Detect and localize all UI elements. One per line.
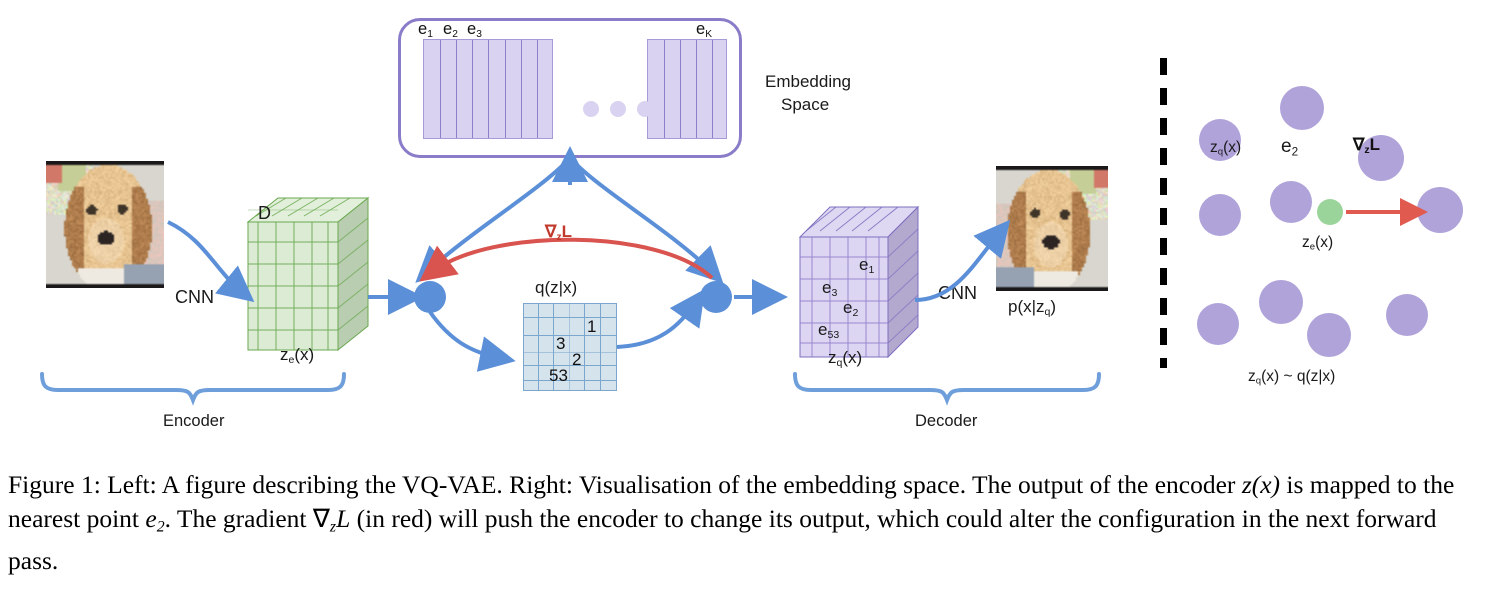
caption-math-grad: ∇ — [313, 504, 330, 533]
diagram-connectors — [0, 0, 1150, 460]
right-e2-base: e — [1281, 136, 1292, 157]
right-e2-sub: 2 — [1292, 145, 1299, 158]
right-gradient-label: ∇zL — [1353, 135, 1380, 156]
right-bottom-label: zq(x) ~ q(z|x) — [1248, 368, 1335, 387]
embedding-dot-7 — [1259, 280, 1303, 324]
encoder-output-dot — [1317, 199, 1343, 225]
embedding-dot-9 — [1307, 313, 1351, 357]
embedding-dot-10 — [1386, 294, 1428, 336]
right-zq-label: zq(x) — [1210, 139, 1241, 158]
decoder-brace-label: Decoder — [915, 412, 977, 431]
caption-math-e2: e — [145, 504, 156, 533]
right-grad-nabla: ∇ — [1353, 135, 1364, 154]
right-ze-tail: (x) — [1315, 234, 1333, 251]
embedding-dot-4 — [1199, 194, 1241, 236]
right-nearest-point-e2: e2 — [1281, 136, 1298, 158]
right-bottom-base: z — [1248, 368, 1256, 385]
right-zq-base: z — [1210, 139, 1218, 156]
embedding-dot-6 — [1417, 187, 1463, 233]
embedding-dot-8 — [1197, 303, 1239, 345]
embedding-space-visualisation: zq(x) e2 ∇zL ze(x) zq(x) ~ q(z|x) — [1150, 30, 1488, 390]
right-ze-label: ze(x) — [1302, 234, 1333, 253]
caption-math-grad-tail: L — [336, 504, 350, 533]
grad-nabla: ∇ — [545, 222, 556, 241]
right-bottom-tail: (x) ~ q(z|x) — [1261, 368, 1335, 385]
caption-mid2: . The gradient — [165, 504, 313, 533]
embedding-dot-2 — [1280, 86, 1324, 130]
right-grad-tail: L — [1370, 135, 1380, 154]
caption-math-e2-sub: 2 — [157, 518, 165, 535]
gradient-label-center: ∇zL — [545, 222, 572, 243]
figure-caption: Figure 1: Left: A figure describing the … — [8, 468, 1482, 578]
vqvae-figure: e1 e2 e3 eK Embedding Space — [0, 0, 1488, 460]
right-panel-svg — [1150, 30, 1488, 390]
encoder-brace-label: Encoder — [163, 412, 224, 431]
right-zq-tail: (x) — [1223, 139, 1241, 156]
caption-prefix: Figure 1: Left: A figure describing the … — [8, 470, 1242, 499]
embedding-dot-5 — [1270, 181, 1312, 223]
grad-tail: L — [562, 222, 572, 241]
caption-math-zx: z(x) — [1242, 470, 1280, 499]
right-ze-base: z — [1302, 234, 1310, 251]
